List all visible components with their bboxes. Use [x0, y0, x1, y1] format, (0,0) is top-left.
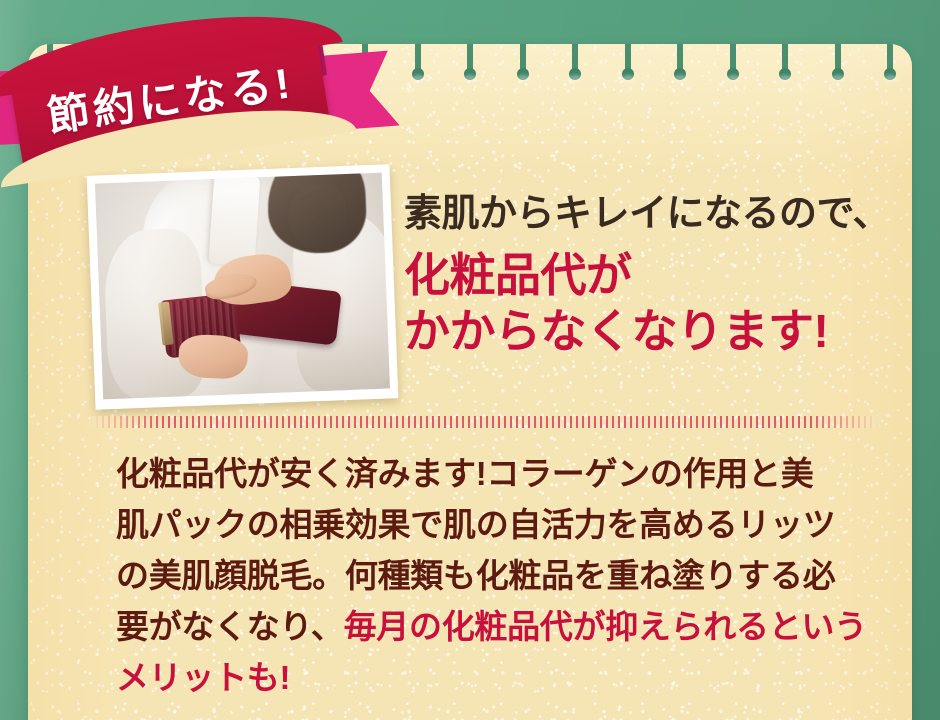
body-text-highlight: 毎月の化粧品代が抑えられるという: [344, 608, 867, 645]
body-line: メリットも!: [116, 652, 896, 703]
body-text: の美肌顔脱毛。何種類も化粧品を重ね塗りする必: [116, 557, 835, 594]
wallet-photo-frame: [87, 164, 399, 409]
headline-line-2: 化粧品代が: [404, 247, 912, 303]
spiral-hole-shadow: [412, 75, 425, 82]
spiral-hole: [622, 44, 634, 88]
spiral-hole-shadow: [832, 75, 845, 82]
spiral-hole-shadow: [727, 75, 740, 82]
spiral-hole-shadow: [884, 75, 897, 82]
headline-block: 素肌からキレイになるので、 化粧品代が かからなくなります!: [404, 192, 912, 359]
body-line: 要がなくなり、毎月の化粧品代が抑えられるという: [116, 601, 896, 652]
spiral-hole-shadow: [569, 75, 582, 82]
spiral-hole-shadow: [464, 75, 477, 82]
perforated-divider: [90, 416, 880, 428]
spiral-hole: [569, 44, 581, 88]
body-line: の美肌顔脱毛。何種類も化粧品を重ね塗りする必: [116, 550, 896, 601]
body-text: 化粧品代が安く済みます!コラーゲンの作用と美: [116, 455, 813, 492]
body-text-highlight: メリットも!: [116, 659, 290, 696]
spiral-hole: [674, 44, 686, 88]
headline-line-3: かからなくなります!: [404, 303, 912, 359]
photo-vignette: [95, 173, 390, 400]
spiral-hole: [412, 44, 424, 88]
spiral-hole: [779, 44, 791, 88]
spiral-hole-shadow: [622, 75, 635, 82]
ribbon-banner: 節約になる!: [0, 44, 398, 164]
spiral-hole: [517, 44, 529, 88]
body-line: 肌パックの相乗効果で肌の自活力を高めるリッツ: [116, 499, 896, 550]
divider-left-fade: [90, 416, 160, 428]
spiral-hole: [464, 44, 476, 88]
spiral-hole-shadow: [674, 75, 687, 82]
spiral-hole-shadow: [517, 75, 530, 82]
spiral-hole: [832, 44, 844, 88]
divider-right-fade: [810, 416, 880, 428]
headline-line-1: 素肌からキレイになるので、: [404, 192, 912, 237]
wallet-photo: [95, 173, 390, 400]
spiral-hole-shadow: [779, 75, 792, 82]
body-paragraph: 化粧品代が安く済みます!コラーゲンの作用と美肌パックの相乗効果で肌の自活力を高め…: [116, 448, 896, 703]
spiral-hole: [884, 44, 896, 88]
body-text: 肌パックの相乗効果で肌の自活力を高めるリッツ: [116, 506, 835, 543]
body-line: 化粧品代が安く済みます!コラーゲンの作用と美: [116, 448, 896, 499]
spiral-hole: [727, 44, 739, 88]
body-text: 要がなくなり、: [116, 608, 344, 645]
